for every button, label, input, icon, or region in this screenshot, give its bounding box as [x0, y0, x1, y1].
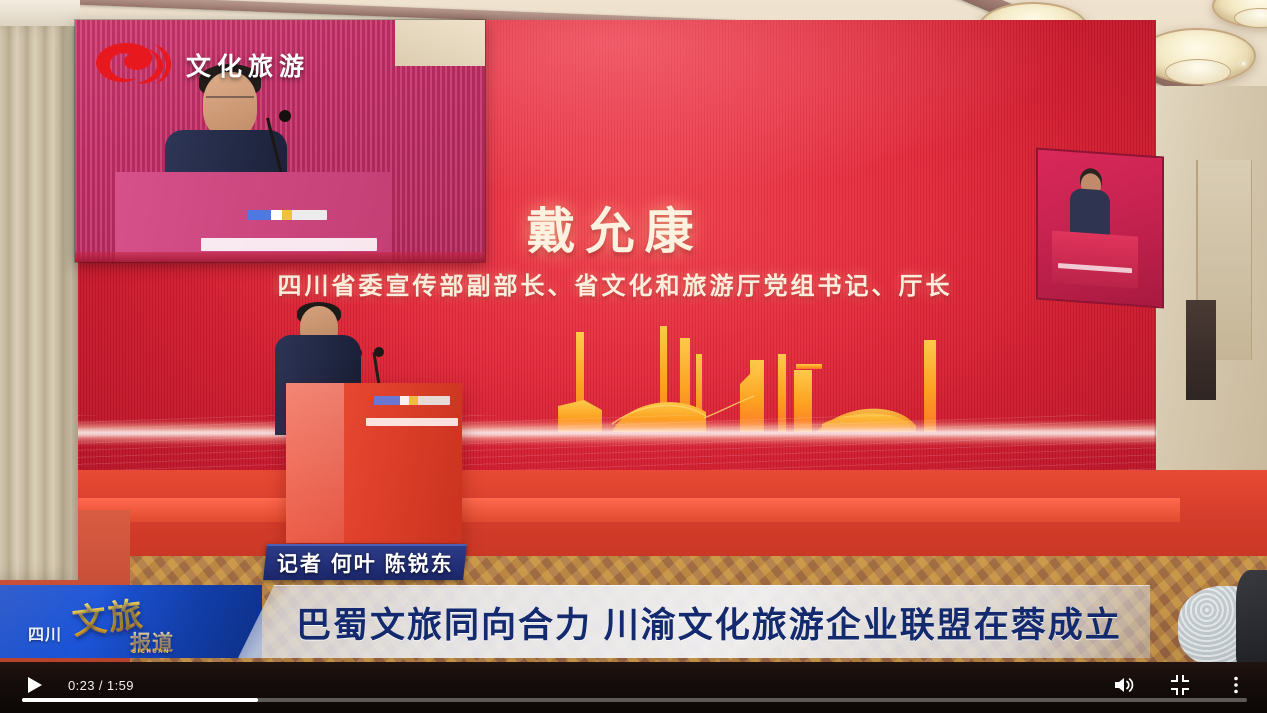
microphone-icon [374, 347, 384, 357]
channel-logo-bug: 文化旅游 [88, 38, 310, 92]
video-viewport[interactable]: 戴允康 四川省委宣传部副部长、省文化和旅游厅党组书记、厅长 [0, 0, 1267, 662]
volume-button[interactable] [1113, 674, 1135, 696]
microphone-icon [279, 110, 291, 122]
stage-front-edge [0, 498, 1180, 522]
led-speaker-title: 四川省委宣传部副部长、省文化和旅游厅党组书记、厅长 [74, 266, 1156, 301]
podium-sponsor-logos [374, 396, 450, 405]
pip-ceiling [395, 20, 485, 66]
controls-left-group: 0:23 / 1:59 [24, 674, 134, 696]
lower-third-banner: 四川 文旅 报道 SICHUAN 巴蜀文旅同向合力 川渝文化旅游企业联盟在蓉成立 [0, 585, 1150, 658]
pip-bottom-edge [75, 252, 485, 262]
chandelier-icon [1212, 0, 1267, 28]
news-headline: 巴蜀文旅同向合力 川渝文化旅游企业联盟在蓉成立 [296, 597, 1122, 648]
volume-icon [1113, 675, 1135, 695]
podium-side-panel [286, 383, 344, 543]
room-curtains [0, 20, 78, 580]
controls-right-group [1113, 674, 1247, 696]
doorway [1186, 300, 1216, 400]
exit-fullscreen-button[interactable] [1169, 674, 1191, 696]
downlight-icon [1240, 60, 1247, 67]
progress-bar[interactable] [22, 698, 1247, 702]
podium-event-title [366, 418, 458, 426]
curtain-valance [0, 0, 80, 26]
progress-bar-played [22, 698, 258, 702]
exit-fullscreen-icon [1170, 675, 1190, 695]
side-led-screen [1036, 148, 1164, 309]
reporter-credit-badge: 记者 何叶 陈锐东 [263, 544, 467, 580]
video-player: 戴允康 四川省委宣传部副部长、省文化和旅游厅党组书记、厅长 [0, 0, 1267, 713]
foreground-audience-member [1236, 570, 1267, 662]
pip-podium-event-title [201, 238, 377, 251]
program-logo-block: 四川 文旅 报道 SICHUAN [0, 585, 262, 658]
more-options-button[interactable] [1225, 674, 1247, 696]
headline-block: 巴蜀文旅同向合力 川渝文化旅游企业联盟在蓉成立 [238, 585, 1150, 658]
player-control-bar: 0:23 / 1:59 [0, 662, 1267, 713]
side-screen-speaker-body [1070, 188, 1110, 235]
pip-podium-sponsor-logos [247, 210, 327, 220]
play-icon [27, 676, 43, 694]
sctv-swirl-logo-icon [88, 38, 174, 92]
program-region-label: 四川 [28, 621, 62, 645]
glasses-icon [206, 96, 254, 106]
reporter-credit-text: 记者 何叶 陈锐东 [277, 548, 454, 578]
play-button[interactable] [24, 674, 46, 696]
time-display: 0:23 / 1:59 [68, 678, 134, 693]
more-vertical-icon [1233, 675, 1239, 695]
channel-name-label: 文化旅游 [186, 47, 310, 83]
side-screen-podium [1052, 231, 1138, 289]
program-pinyin-label: SICHUAN [132, 649, 170, 655]
